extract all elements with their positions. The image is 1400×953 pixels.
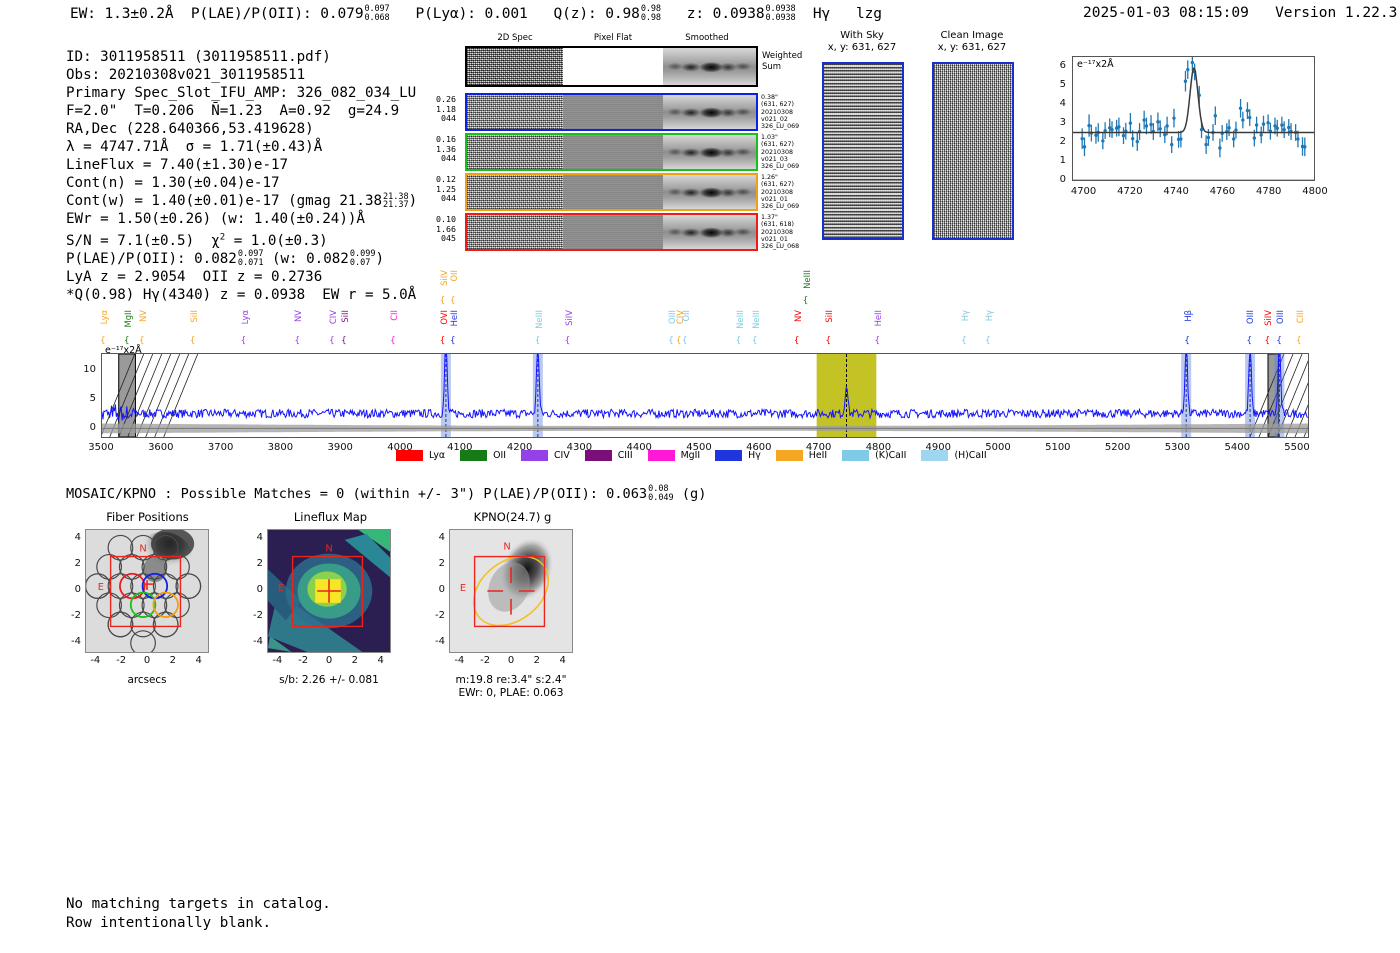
lineflux-map-caption: s/b: 2.26 +/- 0.081 — [267, 674, 391, 687]
info-cont-n: Cont(n) = 1.30(±0.04)e-17 — [66, 175, 280, 191]
legend-label-MgII: MgII — [681, 450, 701, 461]
fit-ytick-4: 4 — [1050, 98, 1066, 109]
line-label-NV-5: NV — [293, 310, 303, 322]
line-label-NeIII-20: NeIII — [802, 270, 812, 289]
legend-swatch-CIV — [521, 450, 548, 461]
line-bracket-25: { — [985, 336, 991, 346]
line-label-CII-8: CII — [389, 310, 399, 321]
spectrum-units-annotation: e⁻¹⁷x2Å — [105, 345, 142, 356]
legend-item-HeII: HeII — [776, 450, 827, 461]
mosaic-filter: (g) — [682, 486, 707, 502]
fiber-0-2dspec — [467, 95, 563, 129]
legend-swatch-Hγ — [715, 450, 742, 461]
line-label-Hγ-25: Hγ — [984, 310, 994, 321]
panel-1-ytick-2: 2 — [245, 558, 263, 569]
line-label-OII-12: OII — [449, 270, 459, 282]
spec-xtick-3800: 3800 — [255, 442, 305, 453]
line-bracket-5: { — [294, 336, 300, 346]
fiber-2-meta: 1.26"(631, 627)20210308v021_01326_LU_069 — [761, 174, 799, 210]
fiber-0-left-values: 0.261.18044 — [422, 95, 456, 124]
spec-xtick-3900: 3900 — [315, 442, 365, 453]
line-label-NeIII-19: NeIII — [751, 310, 761, 329]
withsky-title: With Sky x, y: 631, 627 — [812, 30, 912, 53]
line-label-Lyα-0: Lyα — [99, 310, 109, 324]
spec-xtick-3700: 3700 — [196, 442, 246, 453]
line-label-SiII-22: SiII — [824, 310, 834, 323]
fiber-3-left-values: 0.101.66045 — [422, 215, 456, 244]
kpno-image[interactable]: N E — [449, 529, 573, 653]
fiber-positions-svg: N E — [86, 530, 208, 652]
line-label-NV-2: NV — [138, 310, 148, 322]
fiber-positions-image[interactable]: N E — [85, 529, 209, 653]
fiber-1-left-values: 0.161.36044 — [422, 135, 456, 164]
panel-title-fiber-positions: Fiber Positions — [55, 510, 240, 524]
fiber-1-meta: 1.03"(631, 627)20210308v021_03326_LU_069 — [761, 134, 799, 170]
withsky-image[interactable] — [822, 62, 904, 240]
panel-title-kpno: KPNO(24.7) g — [420, 510, 605, 524]
line-bracket-6: { — [329, 336, 335, 346]
panel-1-ytick-0: 0 — [245, 584, 263, 595]
info-ewr: EWr = 1.50(±0.26) (w: 1.40(±0.24))Å — [66, 211, 365, 227]
legend-swatch-OII — [460, 450, 487, 461]
full-spectrum-panel: Lyα{MgII{NV{SiII{Lyα{NV{CIV{SiII{CII{OVI… — [66, 268, 1346, 468]
header-z: z: 0.0938 — [687, 6, 765, 22]
fiber-2-2dspec — [467, 175, 563, 209]
panel-2-xtick-4: 4 — [551, 655, 575, 666]
line-fit-plot: e⁻¹⁷x2Å 0123456 470047204740476047804800 — [1036, 48, 1321, 223]
mosaic-plae-range: 0.080.049 — [648, 485, 674, 503]
fiber-1-pixelflat — [563, 135, 663, 169]
line-bracket-17: { — [682, 336, 688, 346]
panel-0-xtick-0: 0 — [135, 655, 159, 666]
panel-2-xtick--4: -4 — [447, 655, 471, 666]
info-lineflux: LineFlux = 7.40(±1.30)e-17 — [66, 157, 288, 173]
legend-item-MgII: MgII — [648, 450, 701, 461]
line-bracket-28: { — [1264, 336, 1270, 346]
line-fit-axes: e⁻¹⁷x2Å — [1072, 56, 1315, 181]
fiber-strip-0[interactable] — [465, 93, 758, 131]
fiber-3-2dspec — [467, 215, 563, 249]
fiber-0-pixelflat — [563, 95, 663, 129]
line-bracket-19: { — [752, 336, 758, 346]
cleanimage-coords: x, y: 631, 627 — [938, 42, 1007, 53]
legend-swatch-(K)CaII — [842, 450, 869, 461]
panel-0-ytick-2: 2 — [63, 558, 81, 569]
spec-xtick-3500: 3500 — [76, 442, 126, 453]
fiber-0-meta: 0.38"(631, 627)20210308v021_02326_LU_069 — [761, 94, 799, 130]
info-obs: Obs: 20210308v021_3011958511 — [66, 67, 305, 83]
kpno-caption2: EWr: 0, PLAE: 0.063 — [458, 687, 563, 699]
fit-ytick-2: 2 — [1050, 136, 1066, 147]
weighted-sum-2dspec — [467, 48, 563, 85]
source-info-block: ID: 3011958511 (3011958511.pdf) Obs: 202… — [66, 30, 417, 304]
spectrum-legend: LyαOIICIVCIIIMgIIHγHeII(K)CaII(H)CaII — [396, 446, 1002, 465]
panel-2-ytick--4: -4 — [427, 636, 445, 647]
line-bracket-15: { — [668, 336, 674, 346]
spec-xtick-5300: 5300 — [1152, 442, 1202, 453]
weighted-sum-strip — [465, 46, 758, 87]
line-label-SiII-7: SiII — [340, 310, 350, 323]
panel-0-xtick--2: -2 — [109, 655, 133, 666]
panel-1-xtick-4: 4 — [369, 655, 393, 666]
spec2d-col-pixelflat: Pixel Flat — [568, 33, 658, 43]
footer-line1: No matching targets in catalog. — [66, 896, 331, 912]
header-timestamp-version: 2025-01-03 08:15:09 Version 1.22.3 — [1083, 5, 1397, 21]
line-label-Lyα-4: Lyα — [240, 310, 250, 324]
fit-xtick-4760: 4760 — [1200, 186, 1244, 197]
line-bracket-30: { — [1296, 336, 1302, 346]
spectrum-svg — [102, 354, 1308, 437]
panel-0-xtick-2: 2 — [161, 655, 185, 666]
fiber-1-2dspec — [467, 135, 563, 169]
panel-0-ytick-0: 0 — [63, 584, 81, 595]
legend-label-Hγ: Hγ — [748, 450, 761, 461]
cleanimage-title: Clean Image x, y: 631, 627 — [917, 30, 1027, 53]
legend-label-CIV: CIV — [554, 450, 570, 461]
line-bracket-22: { — [825, 336, 831, 346]
info-cont-w: Cont(w) = 1.40(±0.01)e-17 (gmag 21.3821.… — [66, 193, 417, 209]
header-ew: EW: 1.3±0.2Å — [70, 6, 174, 22]
legend-swatch-Lyα — [396, 450, 423, 461]
info-fwhm-throughput: F=2.0" T=0.206 N̄=1.23 A=0.92 g=24.9 — [66, 103, 399, 119]
mosaic-prefix: MOSAIC/KPNO : Possible Matches = 0 (with… — [66, 486, 598, 502]
panel-title-lineflux-map: Lineflux Map — [238, 510, 423, 524]
lineflux-map-image[interactable]: N E — [267, 529, 391, 653]
fiber-3-pixelflat — [563, 215, 663, 249]
line-label-SiIV-10: SiIV — [439, 270, 449, 286]
line-bracket-21: { — [794, 336, 800, 346]
svg-text:N: N — [139, 544, 146, 555]
mosaic-plae-value: 0.063 — [606, 486, 647, 502]
line-bracket-4: { — [241, 336, 247, 346]
panel-2-ytick--2: -2 — [427, 610, 445, 621]
legend-swatch-HeII — [776, 450, 803, 461]
fiber-positions-xlabel: arcsecs — [85, 674, 209, 686]
panel-2-ytick-0: 0 — [427, 584, 445, 595]
lineflux-map-svg: N E — [268, 530, 390, 652]
mosaic-summary-line: MOSAIC/KPNO : Possible Matches = 0 (with… — [66, 485, 706, 503]
fit-svg — [1073, 57, 1314, 180]
panel-1-ytick-4: 4 — [245, 532, 263, 543]
panel-2-xtick-2: 2 — [525, 655, 549, 666]
spec-ytick-0: 0 — [74, 422, 96, 433]
spec-xtick-5100: 5100 — [1033, 442, 1083, 453]
fiber-1-smoothed — [663, 135, 756, 169]
cutouts-panel: With Sky x, y: 631, 627 Clean Image x, y… — [812, 30, 1032, 260]
panel-0-xtick--4: -4 — [83, 655, 107, 666]
line-label-CIV-6: CIV — [328, 310, 338, 324]
legend-swatch-(H)CaII — [921, 450, 948, 461]
line-bracket-7: { — [341, 336, 347, 346]
fit-units-annotation: e⁻¹⁷x2Å — [1077, 59, 1114, 70]
legend-swatch-CIII — [585, 450, 612, 461]
line-label-OIII-27: OIII — [1245, 310, 1255, 324]
fiber-3-smoothed — [663, 215, 756, 249]
svg-text:E: E — [98, 582, 104, 593]
panel-2-ytick-2: 2 — [427, 558, 445, 569]
legend-label-(K)CaII: (K)CaII — [875, 450, 906, 461]
legend-item-(K)CaII: (K)CaII — [842, 450, 906, 461]
version-label: Version 1.22.3 — [1275, 5, 1397, 21]
info-wavelength: λ = 4747.71Å σ = 1.71(±0.43)Å — [66, 139, 322, 155]
panel-1-xtick-2: 2 — [343, 655, 367, 666]
fit-xtick-4720: 4720 — [1108, 186, 1152, 197]
line-label-Hβ-26: Hβ — [1183, 310, 1193, 322]
fit-ytick-3: 3 — [1050, 117, 1066, 128]
legend-item-Lyα: Lyα — [396, 450, 445, 461]
spec-xtick-5500: 5500 — [1272, 442, 1322, 453]
panel-0-ytick-4: 4 — [63, 532, 81, 543]
legend-item-CIV: CIV — [521, 450, 570, 461]
info-plae-poii: P(LAE)/P(OII): 0.0820.0970.071 (w: 0.082… — [66, 251, 384, 267]
header-qz: Q(z): 0.98 — [554, 6, 640, 22]
kpno-svg: N E — [450, 530, 572, 652]
fiber-strip-1[interactable] — [465, 133, 758, 171]
line-bracket-11: { — [450, 336, 456, 346]
fiber-2-pixelflat — [563, 175, 663, 209]
header-plae-label: P(LAE)/P(OII): — [191, 6, 312, 22]
withsky-coords: x, y: 631, 627 — [828, 42, 897, 53]
line-label-NeIII-18: NeIII — [735, 310, 745, 329]
spec-xtick-5200: 5200 — [1093, 442, 1143, 453]
legend-label-(H)CaII: (H)CaII — [954, 450, 986, 461]
fit-ytick-0: 0 — [1050, 174, 1066, 185]
header-line-id: Hγ — [813, 6, 830, 22]
spec2d-col-2dspec: 2D Spec — [470, 33, 560, 43]
spec2d-panel: 2D Spec Pixel Flat Smoothed WeightedSum … — [420, 33, 810, 253]
fit-ytick-5: 5 — [1050, 79, 1066, 90]
spec-xtick-5400: 5400 — [1212, 442, 1262, 453]
fiber-0-smoothed — [663, 95, 756, 129]
line-label-SiII-3: SiII — [189, 310, 199, 323]
panel-0-ytick--4: -4 — [63, 636, 81, 647]
line-bracket-9: { — [440, 336, 446, 346]
line-label-OIII-29: OIII — [1275, 310, 1285, 324]
legend-item-CIII: CIII — [585, 450, 633, 461]
timestamp: 2025-01-03 08:15:09 — [1083, 5, 1249, 21]
weighted-sum-smoothed — [663, 48, 756, 85]
line-bracket-23: { — [874, 336, 880, 346]
line-bracket-24: { — [961, 336, 967, 346]
header-plya: P(Lyα): 0.001 — [415, 6, 527, 22]
fiber-strip-2[interactable] — [465, 173, 758, 211]
svg-text:E: E — [460, 583, 466, 594]
line-bracket-29: { — [1276, 336, 1282, 346]
header-z-range: 0.09380.0938 — [765, 5, 795, 23]
panel-2-xtick--2: -2 — [473, 655, 497, 666]
line-label-Hγ-24: Hγ — [960, 310, 970, 321]
line-label-SiIV-28: SiIV — [1263, 310, 1273, 326]
line-bracket-12: { — [450, 296, 456, 306]
panel-1-xtick--4: -4 — [265, 655, 289, 666]
line-bracket-27: { — [1246, 336, 1252, 346]
panel-1-xtick-0: 0 — [317, 655, 341, 666]
legend-label-Lyα: Lyα — [429, 450, 445, 461]
line-bracket-26: { — [1184, 336, 1190, 346]
legend-item-(H)CaII: (H)CaII — [921, 450, 986, 461]
line-bracket-8: { — [390, 336, 396, 346]
line-label-NeIII-13: NeIII — [534, 310, 544, 329]
fiber-3-meta: 1.37"(631, 618)20210308v021_01326_LU_068 — [761, 214, 799, 250]
fit-xtick-4700: 4700 — [1062, 186, 1106, 197]
svg-text:N: N — [503, 542, 510, 553]
panel-0-ytick--2: -2 — [63, 610, 81, 621]
panel-1-ytick--2: -2 — [245, 610, 263, 621]
panel-0-xtick-4: 4 — [187, 655, 211, 666]
header-plae-value: 0.079 — [320, 6, 363, 22]
line-label-HeII-23: HeII — [873, 310, 883, 326]
line-bracket-13: { — [535, 336, 541, 346]
line-bracket-16: { — [676, 336, 682, 346]
spec-ytick-5: 5 — [74, 393, 96, 404]
line-label-OVI-9: OVI — [439, 310, 449, 325]
kpno-caption: m:19.8 re:3.4" s:2.4" EWr: 0, PLAE: 0.06… — [425, 674, 597, 700]
fiber-2-left-values: 0.121.25044 — [422, 175, 456, 204]
legend-swatch-MgII — [648, 450, 675, 461]
line-label-OII-17: OII — [681, 310, 691, 322]
line-bracket-14: { — [565, 336, 571, 346]
panel-1-ytick--4: -4 — [245, 636, 263, 647]
cleanimage-image[interactable] — [932, 62, 1014, 240]
spec2d-col-smoothed: Smoothed — [662, 33, 752, 43]
info-radec: RA,Dec (228.640366,53.419628) — [66, 121, 314, 137]
header-summary-line: EW: 1.3±0.2Å P(LAE)/P(OII): 0.0790.0970.… — [70, 5, 882, 23]
info-id: ID: 3011958511 (3011958511.pdf) — [66, 49, 331, 65]
fit-xtick-4780: 4780 — [1247, 186, 1291, 197]
svg-text:E: E — [278, 583, 284, 594]
panel-2-ytick-4: 4 — [427, 532, 445, 543]
fit-ytick-6: 6 — [1050, 60, 1066, 71]
fiber-strip-3[interactable] — [465, 213, 758, 251]
legend-label-HeII: HeII — [809, 450, 827, 461]
weighted-sum-pixelflat — [563, 48, 663, 85]
fit-ytick-1: 1 — [1050, 155, 1066, 166]
spec-xtick-3600: 3600 — [136, 442, 186, 453]
line-label-CIII-30: CIII — [1295, 310, 1305, 323]
panel-1-xtick--2: -2 — [291, 655, 315, 666]
legend-label-CIII: CIII — [618, 450, 633, 461]
line-label-NV-21: NV — [793, 310, 803, 322]
line-bracket-10: { — [440, 296, 446, 306]
spec-ytick-10: 10 — [74, 364, 96, 375]
line-label-MgII-1: MgII — [123, 310, 133, 327]
header-plae-range: 0.0970.068 — [364, 5, 389, 23]
weighted-sum-label: WeightedSum — [762, 51, 802, 73]
line-bracket-20: { — [803, 296, 809, 306]
legend-item-OII: OII — [460, 450, 506, 461]
info-snr-chi2: S/N = 7.1(±0.5) χ2 = 1.0(±0.3) — [66, 233, 328, 249]
fiber-2-smoothed — [663, 175, 756, 209]
svg-text:N: N — [325, 544, 332, 555]
header-flags: lzg — [856, 6, 882, 22]
line-label-HeII-11: HeII — [449, 310, 459, 326]
fit-xtick-4740: 4740 — [1154, 186, 1198, 197]
legend-label-OII: OII — [493, 450, 506, 461]
line-bracket-18: { — [736, 336, 742, 346]
footer-line2: Row intentionally blank. — [66, 915, 271, 931]
header-qz-range: 0.980.98 — [641, 5, 661, 23]
full-spectrum-axes[interactable] — [101, 353, 1309, 438]
panel-2-xtick-0: 0 — [499, 655, 523, 666]
line-label-SiIV-14: SiIV — [564, 310, 574, 326]
imaging-panels: Fiber Positions N E arcsecs Linef — [55, 510, 655, 720]
info-primary-spec: Primary Spec_Slot_IFU_AMP: 326_082_034_L… — [66, 85, 416, 101]
fit-xtick-4800: 4800 — [1293, 186, 1337, 197]
legend-item-Hγ: Hγ — [715, 450, 761, 461]
footer-note: No matching targets in catalog. Row inte… — [66, 876, 331, 933]
line-bracket-3: { — [190, 336, 196, 346]
